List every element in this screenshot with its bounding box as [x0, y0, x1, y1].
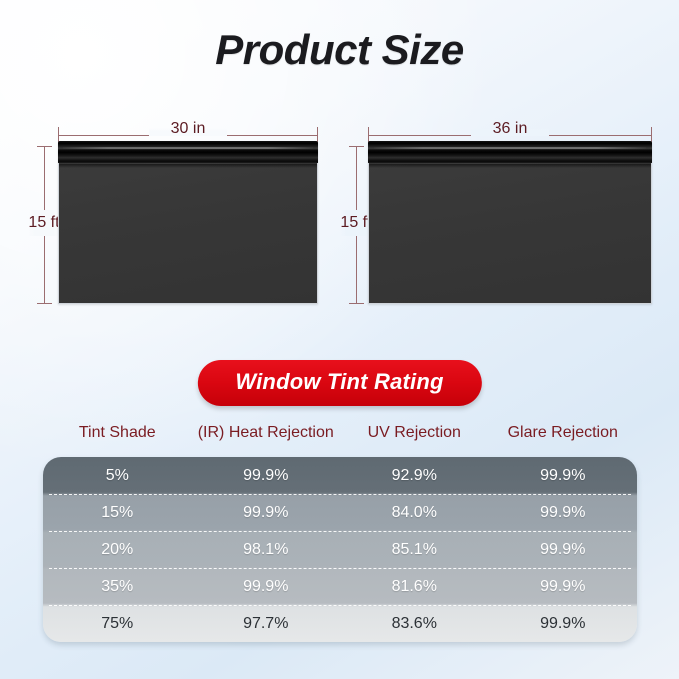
cell-tint-shade: 35% — [43, 578, 192, 596]
height-dimension-30in: 15 ft — [20, 142, 52, 304]
width-label-30in: 30 in — [159, 121, 218, 136]
dimension-cap-top — [37, 146, 52, 147]
window-tint-roll — [58, 142, 318, 304]
cell-uv-rejection: 84.0% — [340, 504, 489, 522]
height-dimension-36in: 15 ft — [332, 142, 364, 304]
column-header-uv-rejection: UV Rejection — [340, 424, 489, 442]
cell-uv-rejection: 83.6% — [340, 615, 489, 633]
window-tint-rating-table: Tint Shade (IR) Heat Rejection UV Reject… — [43, 416, 637, 642]
table-row: 35% 99.9% 81.6% 99.9% — [43, 568, 637, 605]
cell-uv-rejection: 81.6% — [340, 578, 489, 596]
cell-tint-shade: 15% — [43, 504, 192, 522]
cell-glare-rejection: 99.9% — [489, 504, 638, 522]
cell-glare-rejection: 99.9% — [489, 578, 638, 596]
product-roll-30in: 30 in 15 ft — [12, 118, 328, 304]
height-label-36in: 15 ft — [340, 210, 371, 236]
cell-glare-rejection: 99.9% — [489, 467, 638, 485]
infographic-page: Product Size 30 in 15 ft 36 in — [0, 0, 679, 679]
window-tint-rating-badge: Window Tint Rating — [197, 360, 481, 406]
cell-tint-shade: 75% — [43, 615, 192, 633]
height-label-30in: 15 ft — [28, 210, 59, 236]
cell-heat-rejection: 99.9% — [192, 467, 341, 485]
dimension-cap-bottom — [37, 303, 52, 304]
roll-sheet — [369, 164, 651, 303]
table-header-row: Tint Shade (IR) Heat Rejection UV Reject… — [43, 416, 637, 450]
product-roll-36in: 36 in 15 ft — [330, 118, 660, 304]
table-row: 15% 99.9% 84.0% 99.9% — [43, 494, 637, 531]
table-row: 75% 97.7% 83.6% 99.9% — [43, 605, 637, 642]
cell-heat-rejection: 99.9% — [192, 504, 341, 522]
column-header-glare-rejection: Glare Rejection — [489, 424, 638, 442]
roll-core — [368, 141, 652, 163]
roll-sheet — [59, 164, 317, 303]
cell-glare-rejection: 99.9% — [489, 541, 638, 559]
cell-uv-rejection: 92.9% — [340, 467, 489, 485]
width-label-36in: 36 in — [481, 121, 540, 136]
dimension-cap-bottom — [349, 303, 364, 304]
cell-uv-rejection: 85.1% — [340, 541, 489, 559]
dimension-cap-top — [349, 146, 364, 147]
cell-heat-rejection: 97.7% — [192, 615, 341, 633]
cell-heat-rejection: 99.9% — [192, 578, 341, 596]
page-title: Product Size — [0, 26, 679, 74]
width-dimension-36in: 36 in — [368, 118, 652, 142]
table-body: 5% 99.9% 92.9% 99.9% 15% 99.9% 84.0% 99.… — [43, 457, 637, 642]
cell-tint-shade: 20% — [43, 541, 192, 559]
column-header-heat-rejection: (IR) Heat Rejection — [192, 424, 341, 442]
width-dimension-30in: 30 in — [58, 118, 318, 142]
cell-heat-rejection: 98.1% — [192, 541, 341, 559]
roll-core — [58, 141, 318, 163]
table-row: 20% 98.1% 85.1% 99.9% — [43, 531, 637, 568]
cell-glare-rejection: 99.9% — [489, 615, 638, 633]
table-row: 5% 99.9% 92.9% 99.9% — [43, 457, 637, 494]
window-tint-roll — [368, 142, 652, 304]
cell-tint-shade: 5% — [43, 467, 192, 485]
column-header-tint-shade: Tint Shade — [43, 424, 192, 442]
